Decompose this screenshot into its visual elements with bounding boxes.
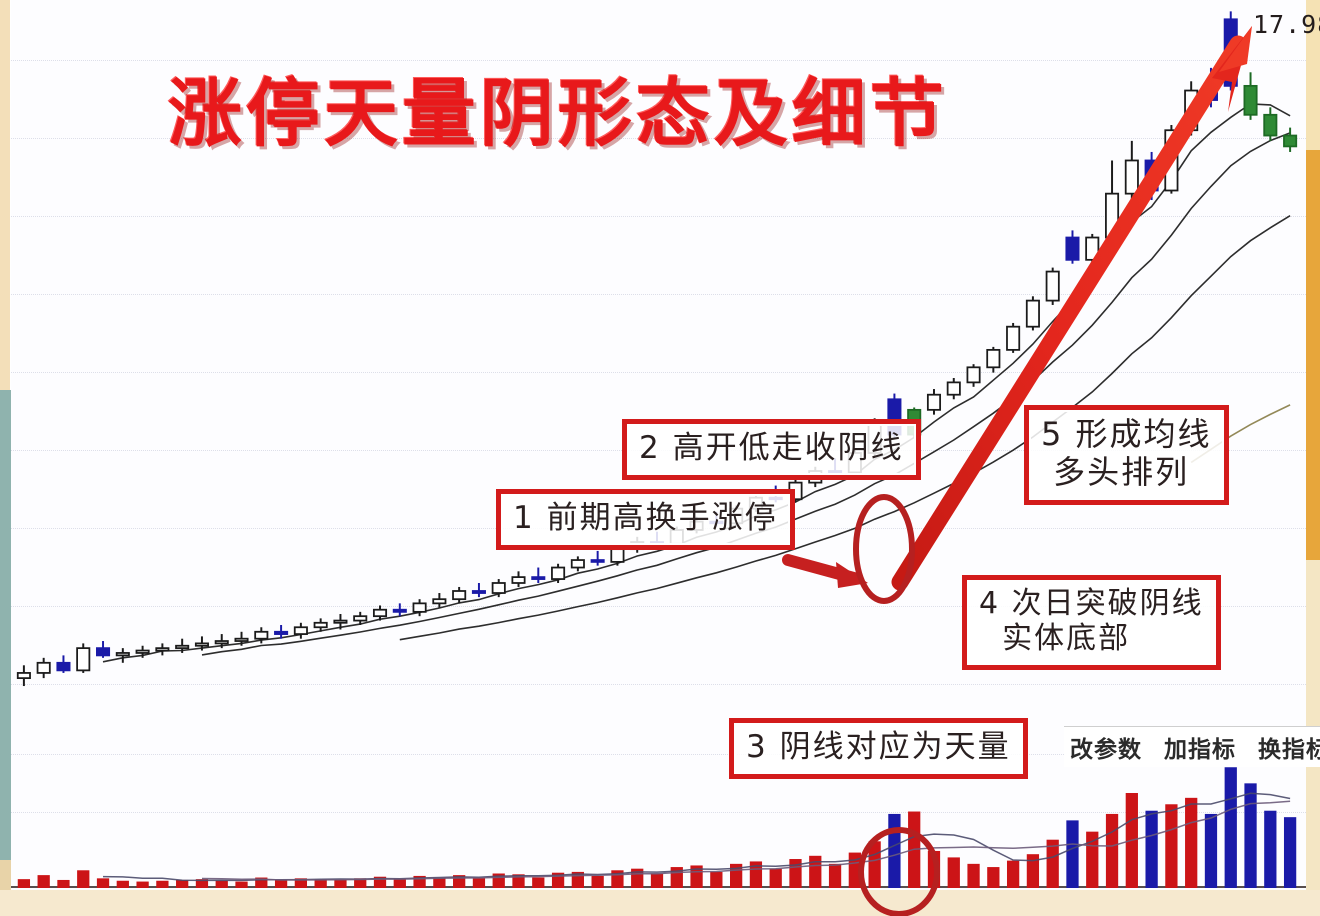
annotation-box-1: 1 前期高换手涨停 (496, 489, 795, 550)
toolbar-add-indicator-button[interactable]: 加指标 (1164, 730, 1236, 764)
stock-chart-screenshot: 涨停天量阴形态及细节 17.98 1 前期高换手涨停 2 高开低走收阴线 3 阴… (0, 0, 1320, 916)
volume-baseline (11, 886, 1306, 888)
toolbar-change-params-button[interactable]: 改参数 (1070, 730, 1142, 764)
page-border-bottom (0, 890, 1320, 916)
annotation-box-2: 2 高开低走收阴线 (622, 419, 921, 480)
page-border-left-top (0, 0, 10, 390)
indicator-toolbar[interactable]: 改参数 加指标 换指标 (1064, 726, 1320, 767)
gridline (11, 812, 1306, 813)
page-title: 涨停天量阴形态及细节 (168, 54, 948, 161)
annotation-box-4: 4 次日突破阴线 实体底部 (962, 575, 1221, 670)
gridline (11, 294, 1306, 295)
annotation-box-3: 3 阴线对应为天量 (729, 718, 1028, 779)
gridline (11, 216, 1306, 217)
gridline (11, 372, 1306, 373)
page-border-right-mid (1306, 150, 1320, 560)
last-price-label: 17.98 (1253, 10, 1320, 39)
page-border-left-bottom (0, 390, 11, 916)
gridline (11, 684, 1306, 685)
toolbar-switch-indicator-button[interactable]: 换指标 (1258, 730, 1320, 764)
annotation-box-5: 5 形成均线 多头排列 (1024, 405, 1229, 505)
